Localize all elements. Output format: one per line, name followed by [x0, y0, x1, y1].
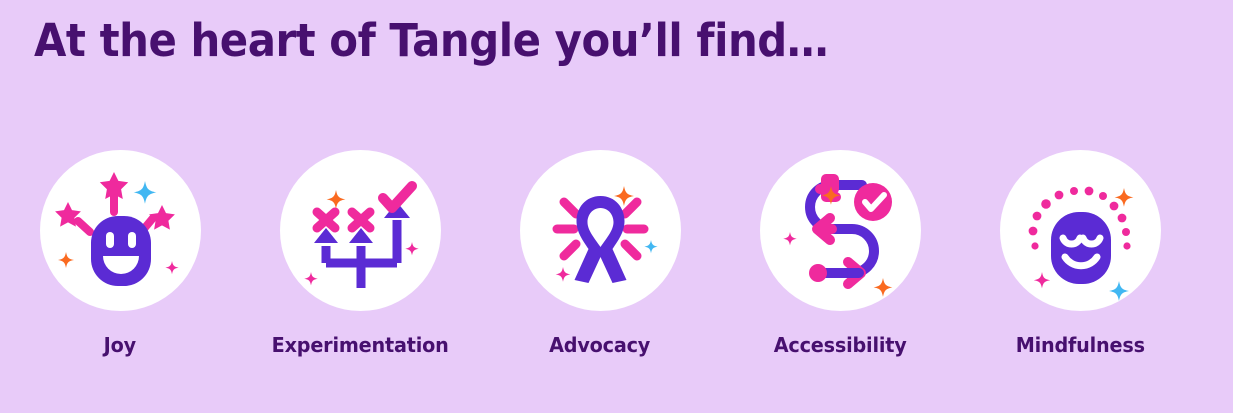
smiley-face-icon [40, 150, 201, 311]
value-card-experimentation[interactable]: Experimentation [240, 150, 480, 357]
value-card-mindfulness[interactable]: Mindfulness [960, 150, 1200, 357]
card-label-advocacy: Advocacy [549, 333, 650, 357]
page-root: At the heart of Tangle you’ll find… [0, 0, 1233, 413]
icon-circle-advocacy [520, 150, 681, 311]
calm-face-icon [1000, 150, 1161, 311]
value-card-joy[interactable]: Joy [0, 150, 240, 357]
card-label-accessibility: Accessibility [774, 333, 907, 357]
card-label-experimentation: Experimentation [272, 333, 449, 357]
icon-circle-accessibility [760, 150, 921, 311]
values-card-row: Joy [0, 150, 1233, 357]
card-label-joy: Joy [104, 333, 136, 357]
value-card-accessibility[interactable]: Accessibility [720, 150, 960, 357]
icon-circle-mindfulness [1000, 150, 1161, 311]
icon-circle-experimentation [280, 150, 441, 311]
page-title: At the heart of Tangle you’ll find… [34, 14, 828, 67]
awareness-ribbon-icon [520, 150, 681, 311]
icon-circle-joy [40, 150, 201, 311]
value-card-advocacy[interactable]: Advocacy [480, 150, 720, 357]
winding-path-icon [760, 150, 921, 311]
branching-arrows-icon [280, 150, 441, 311]
card-label-mindfulness: Mindfulness [1015, 333, 1144, 357]
